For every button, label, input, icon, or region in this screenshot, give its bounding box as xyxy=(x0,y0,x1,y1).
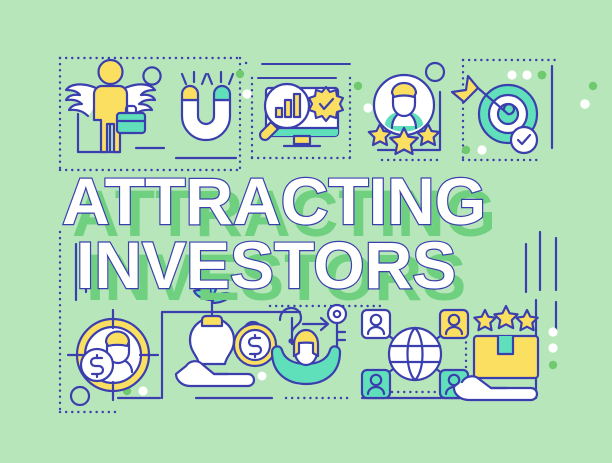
word-concept-banner: .ln{fill:none;stroke:#3b3fae;stroke-widt… xyxy=(0,0,612,463)
title-line2: INVESTORS xyxy=(76,232,456,298)
magnet-icon xyxy=(182,72,233,140)
title-line1: ATTRACTING xyxy=(62,168,486,234)
global-network-icon xyxy=(362,310,468,398)
rated-profile-icon xyxy=(369,75,439,154)
target-arrow-icon xyxy=(452,76,537,153)
analytics-monitor-icon xyxy=(260,84,343,146)
solution-key-icon xyxy=(272,305,346,384)
